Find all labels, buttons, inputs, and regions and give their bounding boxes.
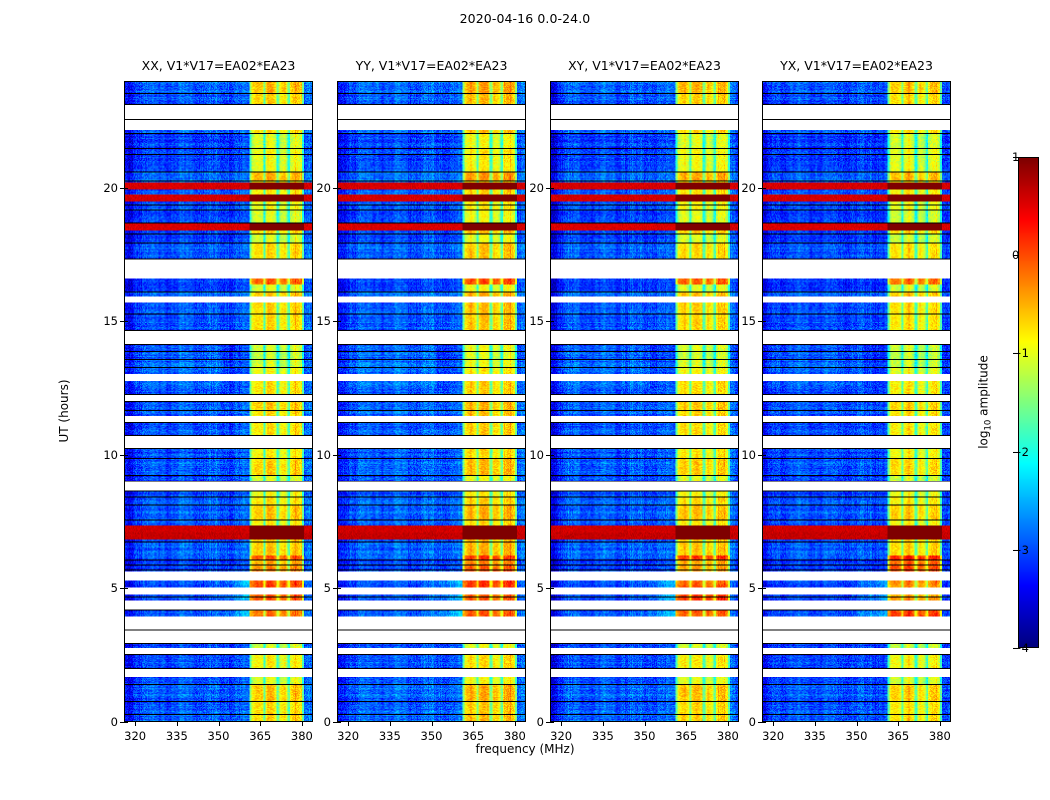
x-tick-label: 350 bbox=[421, 729, 443, 743]
waterfall-pixels bbox=[125, 82, 312, 721]
x-tick-label: 320 bbox=[124, 729, 146, 743]
y-tick-label: 20 bbox=[316, 181, 331, 195]
colorbar[interactable] bbox=[1018, 157, 1039, 648]
y-tick-mark-inner bbox=[124, 455, 128, 456]
waterfall-panel-xy[interactable]: XY, V1*V17=EA02*EA2305101520320335350365… bbox=[550, 81, 739, 722]
y-tick-mark-inner bbox=[762, 188, 766, 189]
colorbar-tick-mark bbox=[1013, 353, 1018, 354]
y-tick-mark-inner bbox=[337, 455, 341, 456]
x-tick-mark-inner bbox=[603, 722, 604, 726]
x-tick-mark-inner bbox=[473, 722, 474, 726]
colorbar-gradient bbox=[1019, 158, 1038, 647]
panel-title: YX, V1*V17=EA02*EA23 bbox=[780, 58, 933, 73]
y-tick-mark-inner bbox=[337, 321, 341, 322]
x-tick-label: 320 bbox=[762, 729, 784, 743]
x-tick-mark-inner bbox=[135, 722, 136, 726]
y-tick-mark-inner bbox=[550, 188, 554, 189]
x-tick-mark-inner bbox=[390, 722, 391, 726]
y-tick-mark-inner bbox=[124, 321, 128, 322]
x-tick-label: 335 bbox=[804, 729, 826, 743]
waterfall-panel-yy[interactable]: YY, V1*V17=EA02*EA2305101520320335350365… bbox=[337, 81, 526, 722]
y-tick-mark-inner bbox=[762, 588, 766, 589]
y-tick-label: 5 bbox=[111, 581, 118, 595]
y-tick-label: 10 bbox=[529, 448, 544, 462]
colorbar-tick-mark bbox=[1013, 648, 1018, 649]
waterfall-pixels bbox=[338, 82, 525, 721]
x-tick-mark-inner bbox=[348, 722, 349, 726]
x-tick-mark-inner bbox=[260, 722, 261, 726]
x-tick-mark-inner bbox=[177, 722, 178, 726]
x-tick-mark-inner bbox=[515, 722, 516, 726]
x-tick-mark-inner bbox=[686, 722, 687, 726]
panel-title: YY, V1*V17=EA02*EA23 bbox=[356, 58, 508, 73]
y-tick-mark-inner bbox=[550, 321, 554, 322]
y-tick-label: 20 bbox=[103, 181, 118, 195]
y-tick-label: 20 bbox=[529, 181, 544, 195]
x-tick-mark-inner bbox=[432, 722, 433, 726]
colorbar-tick-mark bbox=[1013, 550, 1018, 551]
y-tick-mark-inner bbox=[550, 455, 554, 456]
y-tick-mark-inner bbox=[550, 588, 554, 589]
x-tick-label: 380 bbox=[291, 729, 313, 743]
x-tick-mark-inner bbox=[728, 722, 729, 726]
figure-suptitle: 2020-04-16 0.0-24.0 bbox=[0, 11, 1050, 26]
y-tick-label: 15 bbox=[316, 314, 331, 328]
y-tick-label: 0 bbox=[749, 715, 756, 729]
colorbar-label: log10 amplitude bbox=[976, 355, 993, 449]
y-tick-label: 5 bbox=[324, 581, 331, 595]
y-tick-label: 20 bbox=[741, 181, 756, 195]
waterfall-pixels bbox=[763, 82, 950, 721]
x-tick-label: 350 bbox=[634, 729, 656, 743]
y-tick-label: 15 bbox=[741, 314, 756, 328]
y-tick-label: 15 bbox=[529, 314, 544, 328]
x-tick-label: 380 bbox=[929, 729, 951, 743]
y-tick-label: 10 bbox=[103, 448, 118, 462]
x-tick-label: 380 bbox=[717, 729, 739, 743]
y-tick-mark-inner bbox=[337, 188, 341, 189]
x-tick-label: 335 bbox=[592, 729, 614, 743]
x-tick-label: 350 bbox=[846, 729, 868, 743]
x-tick-label: 320 bbox=[550, 729, 572, 743]
waterfall-panel-xx[interactable]: XX, V1*V17=EA02*EA2305101520320335350365… bbox=[124, 81, 313, 722]
y-tick-label: 5 bbox=[749, 581, 756, 595]
x-tick-label: 365 bbox=[887, 729, 909, 743]
x-tick-mark-inner bbox=[898, 722, 899, 726]
y-tick-label: 10 bbox=[741, 448, 756, 462]
x-tick-mark-inner bbox=[815, 722, 816, 726]
x-tick-mark-inner bbox=[645, 722, 646, 726]
y-tick-mark-inner bbox=[762, 722, 766, 723]
y-tick-mark-inner bbox=[124, 588, 128, 589]
x-axis-label: frequency (MHz) bbox=[0, 742, 1050, 756]
figure-canvas: 2020-04-16 0.0-24.0 UT (hours) frequency… bbox=[0, 0, 1050, 800]
y-tick-mark-inner bbox=[124, 188, 128, 189]
colorbar-tick-mark bbox=[1013, 255, 1018, 256]
x-tick-label: 365 bbox=[249, 729, 271, 743]
x-tick-mark-inner bbox=[561, 722, 562, 726]
colorbar-tick-mark bbox=[1013, 452, 1018, 453]
y-tick-label: 10 bbox=[316, 448, 331, 462]
x-tick-mark-inner bbox=[857, 722, 858, 726]
y-tick-mark-inner bbox=[337, 722, 341, 723]
x-tick-mark-inner bbox=[773, 722, 774, 726]
y-tick-mark-inner bbox=[550, 722, 554, 723]
panel-title: XX, V1*V17=EA02*EA23 bbox=[142, 58, 296, 73]
panel-title: XY, V1*V17=EA02*EA23 bbox=[568, 58, 721, 73]
x-tick-mark-inner bbox=[940, 722, 941, 726]
x-tick-label: 365 bbox=[675, 729, 697, 743]
y-tick-label: 0 bbox=[324, 715, 331, 729]
x-tick-label: 365 bbox=[462, 729, 484, 743]
y-axis-label: UT (hours) bbox=[57, 379, 71, 442]
y-tick-mark-inner bbox=[762, 455, 766, 456]
x-tick-mark-inner bbox=[302, 722, 303, 726]
x-tick-label: 380 bbox=[504, 729, 526, 743]
y-tick-mark-inner bbox=[762, 321, 766, 322]
x-tick-label: 320 bbox=[337, 729, 359, 743]
waterfall-image[interactable] bbox=[550, 81, 739, 722]
waterfall-image[interactable] bbox=[124, 81, 313, 722]
x-tick-label: 335 bbox=[379, 729, 401, 743]
y-tick-mark-inner bbox=[124, 722, 128, 723]
y-tick-label: 0 bbox=[537, 715, 544, 729]
waterfall-pixels bbox=[551, 82, 738, 721]
waterfall-image[interactable] bbox=[762, 81, 951, 722]
x-tick-label: 350 bbox=[208, 729, 230, 743]
waterfall-image[interactable] bbox=[337, 81, 526, 722]
x-tick-mark-inner bbox=[219, 722, 220, 726]
y-tick-label: 0 bbox=[111, 715, 118, 729]
y-tick-label: 5 bbox=[537, 581, 544, 595]
colorbar-tick-mark bbox=[1013, 157, 1018, 158]
waterfall-panel-yx[interactable]: YX, V1*V17=EA02*EA2305101520320335350365… bbox=[762, 81, 951, 722]
x-tick-label: 335 bbox=[166, 729, 188, 743]
y-tick-mark-inner bbox=[337, 588, 341, 589]
y-tick-label: 15 bbox=[103, 314, 118, 328]
